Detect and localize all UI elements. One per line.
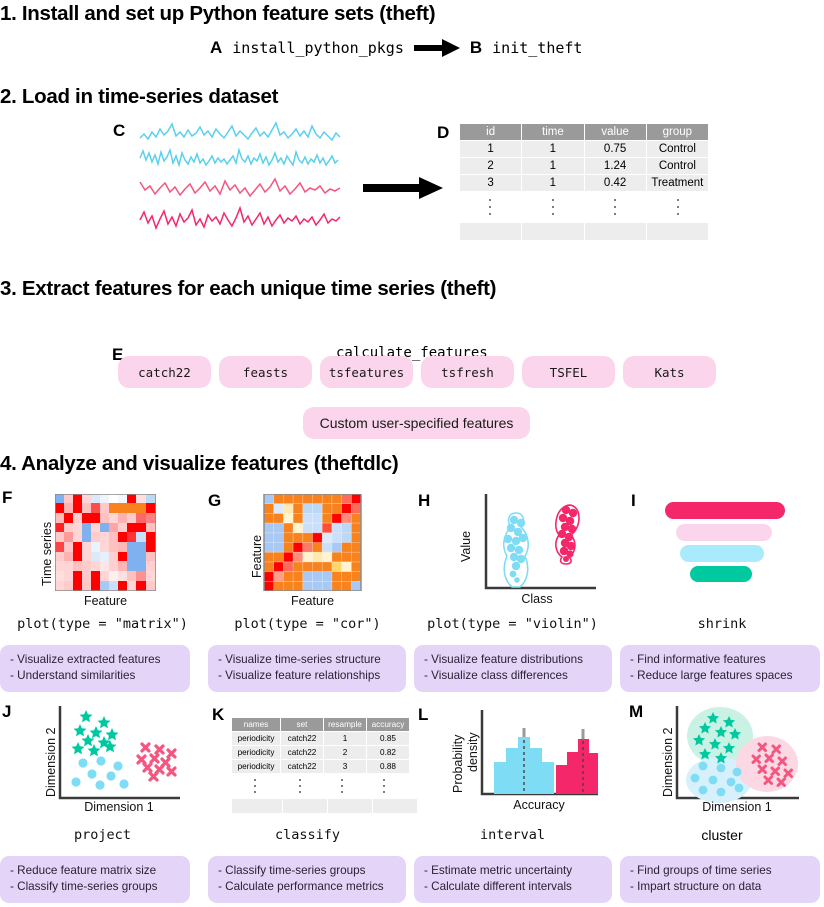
panel-letter-m: M [629,702,643,722]
table-cell: 0.85 [367,732,410,746]
panel-letter-g: G [208,491,221,511]
panel-letter-l: L [418,705,428,725]
table-header-row: names set resample accuracy [232,718,410,732]
table-cell: 1 [522,158,584,175]
panel-f-code-label: plot(type = "matrix") [0,616,205,632]
table-cell [646,223,708,241]
panel-g-description: - Visualize time-series structure - Visu… [208,645,406,692]
section-heading-3: 3. Extract features for each unique time… [0,277,496,301]
vertical-dots-icon [231,774,279,798]
table-cell [460,223,522,241]
panel-i-code-label: shrink [620,616,824,632]
panel-letter-b: B [470,38,482,58]
table-row: periodicity catch22 2 0.82 [232,746,410,760]
table-cell: catch22 [281,732,324,746]
table-cell: catch22 [281,746,324,760]
feature-set-pill-tsfeatures[interactable]: tsfeatures [320,356,413,388]
table-header-cell: id [460,124,522,141]
bullet-item: - Visualize feature relationships [218,668,397,684]
panel-k-description: - Classify time-series groups - Calculat… [208,856,406,903]
table-cell: Treatment [646,175,708,192]
table-row: periodicity catch22 1 0.85 [232,732,410,746]
bullet-item: - Classify time-series groups [218,863,397,879]
vertical-dots-icon [321,774,363,798]
table-header-cell: names [232,718,281,732]
bullet-item: - Find groups of time series [630,863,811,879]
table-cell: Control [646,158,708,175]
panel-j-xlabel: Dimension 1 [56,800,182,814]
panel-g-xlabel: Feature [262,594,363,608]
table-cell: 1 [324,732,367,746]
table-header-cell: resample [324,718,367,732]
classify-table-footer [231,798,418,814]
panel-letter-i: I [631,491,636,511]
bullet-item: - Classify time-series groups [10,879,181,895]
section-heading-2: 2. Load in time-series dataset [0,85,278,109]
panel-h-xlabel: Class [478,592,596,606]
panel-l-interval-histogram [478,710,600,802]
table-cell: periodicity [232,760,281,774]
table-cell [328,799,373,814]
panel-l-code-label: interval [410,827,615,843]
feature-set-pill-feasts[interactable]: feasts [219,356,312,388]
table-cell: periodicity [232,732,281,746]
feature-set-pill-catch22[interactable]: catch22 [118,356,211,388]
vertical-dots-icon [279,774,321,798]
panel-h-violin-plot [478,494,598,596]
panel-m-description: - Find groups of time series - Impart st… [620,856,820,903]
panel-letter-k: K [212,705,224,725]
panel-f-ylabel: Time series [40,522,54,586]
bullet-item: - Visualize extracted features [10,652,181,668]
table-cell [522,223,584,241]
panel-letter-j: J [2,702,11,722]
table-cell [584,223,646,241]
feature-set-pill-tsfresh[interactable]: tsfresh [421,356,514,388]
table-cell: 0.75 [584,141,646,158]
table-cell: 2 [324,746,367,760]
panel-g-correlation-heatmap [262,494,363,591]
bullet-item: - Calculate performance metrics [218,879,397,895]
table-cell: 2 [460,158,522,175]
table-cell: 0.82 [367,746,410,760]
table-row: 1 1 0.75 Control [460,141,709,158]
panel-h-ylabel: Value [459,531,473,562]
table-row: 3 1 0.42 Treatment [460,175,709,192]
table-cell: 3 [324,760,367,774]
table-row [460,223,709,241]
table-row [232,799,418,814]
table-header-cell: group [646,124,708,141]
table-cell: 0.42 [584,175,646,192]
panel-k-code-label: classify [205,827,410,843]
panel-letter-a: A [210,38,222,58]
panel-g-code-label: plot(type = "cor") [205,616,410,632]
bullet-item: - Visualize class differences [424,668,603,684]
table-cell: 1.24 [584,158,646,175]
table-cell [373,799,418,814]
table-cell [283,799,328,814]
dataset-table: id time value group 1 1 0.75 Control 2 1… [459,123,709,192]
table-row: periodicity catch22 3 0.88 [232,760,410,774]
bullet-item: - Visualize time-series structure [218,652,397,668]
table-cell [232,799,283,814]
table-cell: 1 [460,141,522,158]
table-cell: Control [646,141,708,158]
table-header-cell: accuracy [367,718,410,732]
time-series-plot [137,120,387,240]
table-cell: 3 [460,175,522,192]
table-continuation-dots [459,192,709,222]
table-continuation-dots [231,774,418,798]
vertical-dots-icon [647,192,710,222]
panel-k-table-wrap: names set resample accuracy periodicity … [231,717,418,814]
panel-i-description: - Find informative features - Reduce lar… [620,645,820,692]
dataset-table-wrap: id time value group 1 1 0.75 Control 2 1… [459,123,709,241]
table-header-row: id time value group [460,124,709,141]
bullet-item: - Understand similarities [10,668,181,684]
panel-f-matrix-heatmap [55,494,156,591]
install-python-pkgs-label: install_python_pkgs [232,39,404,57]
panel-j-project-scatter [56,706,182,804]
vertical-dots-icon [459,192,522,222]
panel-m-code-label: cluster [620,827,824,843]
table-header-cell: set [281,718,324,732]
panel-j-description: - Reduce feature matrix size - Classify … [0,856,190,903]
panel-h-code-label: plot(type = "violin") [410,616,615,632]
classify-table: names set resample accuracy periodicity … [231,717,410,774]
arrow-right-icon [414,36,460,60]
table-header-cell: time [522,124,584,141]
panel-i-shrink-bars [665,500,790,582]
panel-letter-f: F [2,488,12,508]
bullet-item: - Impart structure on data [630,879,811,895]
panel-m-xlabel: Dimension 1 [673,800,801,814]
panel-letter-h: H [418,491,430,511]
vertical-dots-icon [584,192,647,222]
table-cell: 1 [522,175,584,192]
bullet-item: - Calculate different intervals [424,879,603,895]
panel-f-description: - Visualize extracted features - Underst… [0,645,190,692]
panel-letter-c: C [113,121,125,141]
table-cell: catch22 [281,760,324,774]
panel-letter-d: D [437,123,449,143]
dataset-table-footer [459,222,709,241]
panel-l-description: - Estimate metric uncertainty - Calculat… [414,856,612,903]
custom-features-pill[interactable]: Custom user-specified features [303,407,530,439]
panel-l-ylabel-line1: Probability [451,735,465,793]
table-cell: periodicity [232,746,281,760]
panel-j-code-label: project [0,827,205,843]
vertical-dots-icon [522,192,585,222]
table-cell: 0.88 [367,760,410,774]
bullet-item: - Find informative features [630,652,811,668]
section-heading-4: 4. Analyze and visualize features (theft… [0,452,398,476]
table-header-cell: value [584,124,646,141]
bullet-item: - Visualize feature distributions [424,652,603,668]
bullet-item: - Reduce feature matrix size [10,863,181,879]
panel-m-cluster-scatter [673,706,801,804]
table-cell: 1 [522,141,584,158]
step1-row: A install_python_pkgs B init_theft [210,36,582,60]
table-row: 2 1 1.24 Control [460,158,709,175]
panel-h-description: - Visualize feature distributions - Visu… [414,645,612,692]
panel-f-xlabel: Feature [55,594,156,608]
init-theft-label: init_theft [492,39,582,57]
bullet-item: - Reduce large features spaces [630,668,811,684]
bullet-item: - Estimate metric uncertainty [424,863,603,879]
section-heading-1: 1. Install and set up Python feature set… [0,2,435,26]
vertical-dots-icon [363,774,405,798]
feature-set-pill-kats[interactable]: Kats [623,356,716,388]
panel-l-xlabel: Accuracy [478,798,600,812]
feature-set-pill-tsfel[interactable]: TSFEL [522,356,615,388]
arrow-right-icon-2 [363,175,443,201]
